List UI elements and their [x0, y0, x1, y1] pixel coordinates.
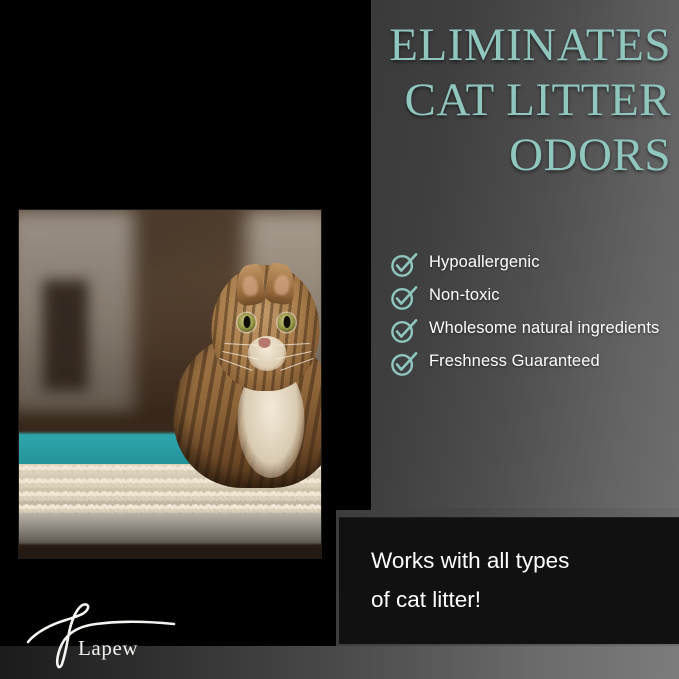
check-circle-icon [390, 351, 418, 377]
kitten-pupil-left [243, 316, 250, 328]
callout-line-2: of cat litter! [371, 581, 661, 620]
feature-list: Hypoallergenic Non-toxic Wholesome natur… [390, 251, 662, 383]
kitten-ear-inner-right [273, 274, 291, 296]
kitten-whisker [220, 358, 253, 371]
litter-box-rim [19, 513, 321, 544]
photo-blurred-doorway [43, 280, 88, 391]
callout-box: Works with all types of cat litter! [339, 517, 679, 644]
callout-text: Works with all types of cat litter! [371, 542, 661, 619]
kitten-ear-right [265, 262, 299, 306]
kitten-whisker [276, 343, 309, 346]
kitten-ear-inner-left [241, 276, 259, 298]
list-item: Hypoallergenic [390, 251, 662, 278]
check-circle-icon [390, 252, 418, 278]
check-circle-icon [390, 318, 418, 344]
list-item: Non-toxic [390, 284, 662, 311]
kitten-pupil-right [283, 316, 290, 328]
kitten-litter-box-photo [19, 210, 321, 558]
kitten-ear-left [232, 263, 266, 307]
list-item: Wholesome natural ingredients [390, 317, 662, 344]
headline-line-1: ELIMINATES [296, 18, 671, 73]
kitten [163, 238, 321, 489]
list-item: Freshness Guaranteed [390, 350, 662, 377]
headline: ELIMINATES CAT LITTER ODORS [296, 18, 671, 183]
feature-label: Non-toxic [429, 284, 500, 307]
headline-line-3: ODORS [296, 128, 671, 183]
brand-logo: Lapew [22, 598, 182, 670]
kitten-eye-right [277, 313, 295, 332]
callout-line-1: Works with all types [371, 542, 661, 581]
headline-line-2: CAT LITTER [296, 73, 671, 128]
kitten-head [211, 265, 320, 390]
kitten-whisker [224, 343, 257, 346]
product-infographic: ELIMINATES CAT LITTER ODORS [0, 0, 679, 679]
feature-label: Hypoallergenic [429, 251, 540, 274]
feature-label: Wholesome natural ingredients [429, 317, 659, 340]
kitten-eye-left [237, 313, 255, 332]
brand-name: Lapew [78, 636, 138, 661]
feature-label: Freshness Guaranteed [429, 350, 600, 373]
check-circle-icon [390, 285, 418, 311]
